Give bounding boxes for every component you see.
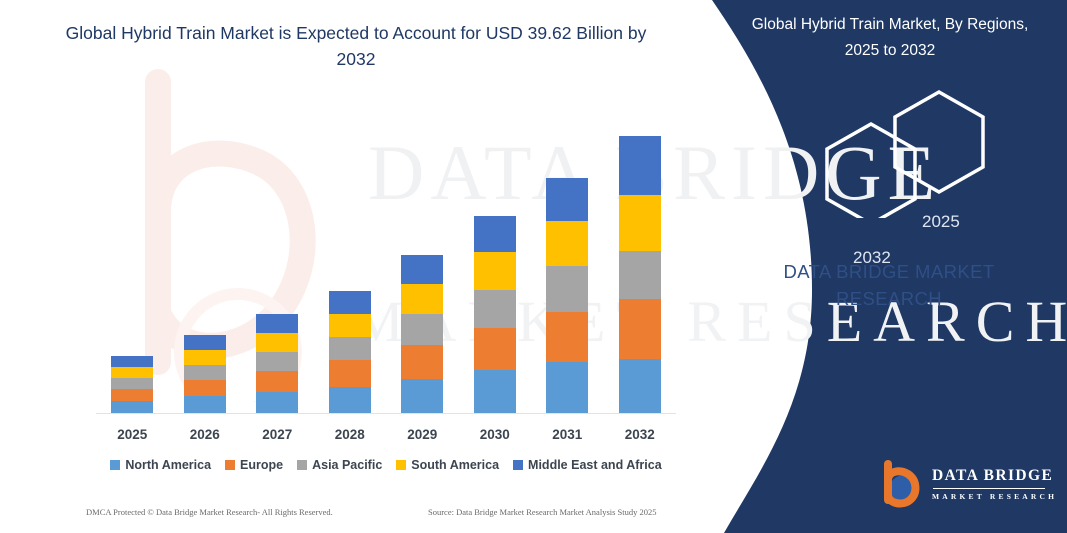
logo-subtitle: MARKET RESEARCH [932, 492, 1057, 501]
bar-segment [329, 387, 371, 413]
logo-text: DATA BRIDGE MARKET RESEARCH [932, 467, 1057, 501]
legend-label: Europe [240, 458, 283, 472]
x-tick-2027: 2027 [241, 427, 313, 442]
stacked-bar [329, 291, 371, 413]
footer: DMCA Protected © Data Bridge Market Rese… [0, 507, 700, 525]
bar-segment [184, 380, 226, 396]
legend-item: South America [396, 458, 499, 472]
bar-segment [111, 389, 153, 401]
legend-label: South America [411, 458, 499, 472]
legend-swatch-icon [225, 460, 235, 470]
x-tick-2032: 2032 [604, 427, 676, 442]
bar-segment [111, 367, 153, 378]
logo-mark-icon [880, 460, 926, 508]
panel-title: Global Hybrid Train Market, By Regions, … [740, 12, 1040, 64]
bar-segment [619, 359, 661, 413]
brand-line-1: DATA BRIDGE MARKET [734, 258, 1044, 285]
brand-text: DATA BRIDGE MARKET RESEARCH [734, 258, 1044, 312]
page-title: Global Hybrid Train Market is Expected t… [56, 20, 656, 72]
bar-segment [474, 370, 516, 413]
bar-column-2026 [169, 118, 241, 413]
stacked-bar [619, 136, 661, 413]
stacked-bar [401, 255, 443, 413]
x-tick-2029: 2029 [386, 427, 458, 442]
bar-segment [329, 337, 371, 360]
bar-segment [401, 345, 443, 379]
bar-segment [184, 396, 226, 413]
bar-segment [474, 290, 516, 328]
bar-segment [184, 335, 226, 350]
bar-column-2027 [241, 118, 313, 413]
bar-segment [256, 371, 298, 392]
bar-segment [546, 178, 588, 221]
bar-segment [256, 392, 298, 413]
bar-segment [111, 356, 153, 367]
bar-segment [546, 312, 588, 362]
bar-segment [329, 291, 371, 314]
bar-segment [111, 378, 153, 389]
chart-area: Global Hybrid Train Market is Expected t… [0, 0, 712, 533]
bar-segment [184, 350, 226, 365]
x-tick-2031: 2031 [531, 427, 603, 442]
hexagon-2025-shape [895, 92, 983, 192]
legend-item: North America [110, 458, 211, 472]
company-logo: DATA BRIDGE MARKET RESEARCH [880, 460, 1060, 512]
stacked-bar-plot [96, 118, 676, 413]
hexagon-2025-label: 2025 [922, 212, 960, 232]
stacked-bar [474, 216, 516, 413]
x-tick-2025: 2025 [96, 427, 168, 442]
bar-segment [474, 328, 516, 370]
bar-segment [111, 401, 153, 413]
bar-segment [401, 379, 443, 413]
bar-segment [474, 216, 516, 252]
x-tick-2026: 2026 [169, 427, 241, 442]
bar-segment [184, 365, 226, 380]
stacked-bar [546, 178, 588, 413]
bar-segment [401, 284, 443, 314]
bar-segment [256, 352, 298, 371]
bar-segment [256, 314, 298, 333]
x-axis-tick-labels: 20252026202720282029203020312032 [96, 423, 676, 445]
bar-segment [546, 362, 588, 413]
logo-title: DATA BRIDGE [932, 467, 1057, 485]
bar-segment [546, 221, 588, 266]
brand-line-2: RESEARCH [734, 285, 1044, 312]
footer-source: Source: Data Bridge Market Research Mark… [428, 507, 657, 517]
hexagon-badges: 2025 2032 [787, 88, 1067, 218]
right-panel-content: Global Hybrid Train Market, By Regions, … [712, 0, 1067, 533]
infographic-canvas: DATA BRIDGE MARKET RESEARCH Global Hybri… [0, 0, 1067, 533]
bar-segment [619, 299, 661, 359]
legend-label: North America [125, 458, 211, 472]
bar-segment [546, 266, 588, 312]
chart-legend: North AmericaEuropeAsia PacificSouth Ame… [96, 455, 676, 475]
bar-column-2025 [96, 118, 168, 413]
legend-swatch-icon [110, 460, 120, 470]
x-axis-baseline [96, 413, 676, 414]
x-tick-2028: 2028 [314, 427, 386, 442]
legend-item: Middle East and Africa [513, 458, 662, 472]
bar-segment [619, 136, 661, 195]
legend-item: Asia Pacific [297, 458, 382, 472]
bar-column-2031 [531, 118, 603, 413]
bar-segment [329, 314, 371, 337]
bar-column-2028 [314, 118, 386, 413]
x-tick-2030: 2030 [459, 427, 531, 442]
legend-swatch-icon [513, 460, 523, 470]
bar-column-2029 [386, 118, 458, 413]
footer-copyright: DMCA Protected © Data Bridge Market Rese… [86, 507, 333, 517]
stacked-bar [256, 314, 298, 413]
bar-segment [256, 333, 298, 352]
bar-column-2032 [604, 118, 676, 413]
stacked-bar [184, 335, 226, 413]
legend-swatch-icon [297, 460, 307, 470]
bar-segment [401, 255, 443, 284]
bar-segment [619, 195, 661, 251]
legend-swatch-icon [396, 460, 406, 470]
legend-item: Europe [225, 458, 283, 472]
bar-segment [401, 314, 443, 345]
logo-divider [933, 488, 1045, 489]
bar-segment [474, 252, 516, 290]
bar-segment [329, 360, 371, 387]
bar-column-2030 [459, 118, 531, 413]
stacked-bar [111, 356, 153, 413]
bar-segment [619, 251, 661, 299]
legend-label: Asia Pacific [312, 458, 382, 472]
legend-label: Middle East and Africa [528, 458, 662, 472]
